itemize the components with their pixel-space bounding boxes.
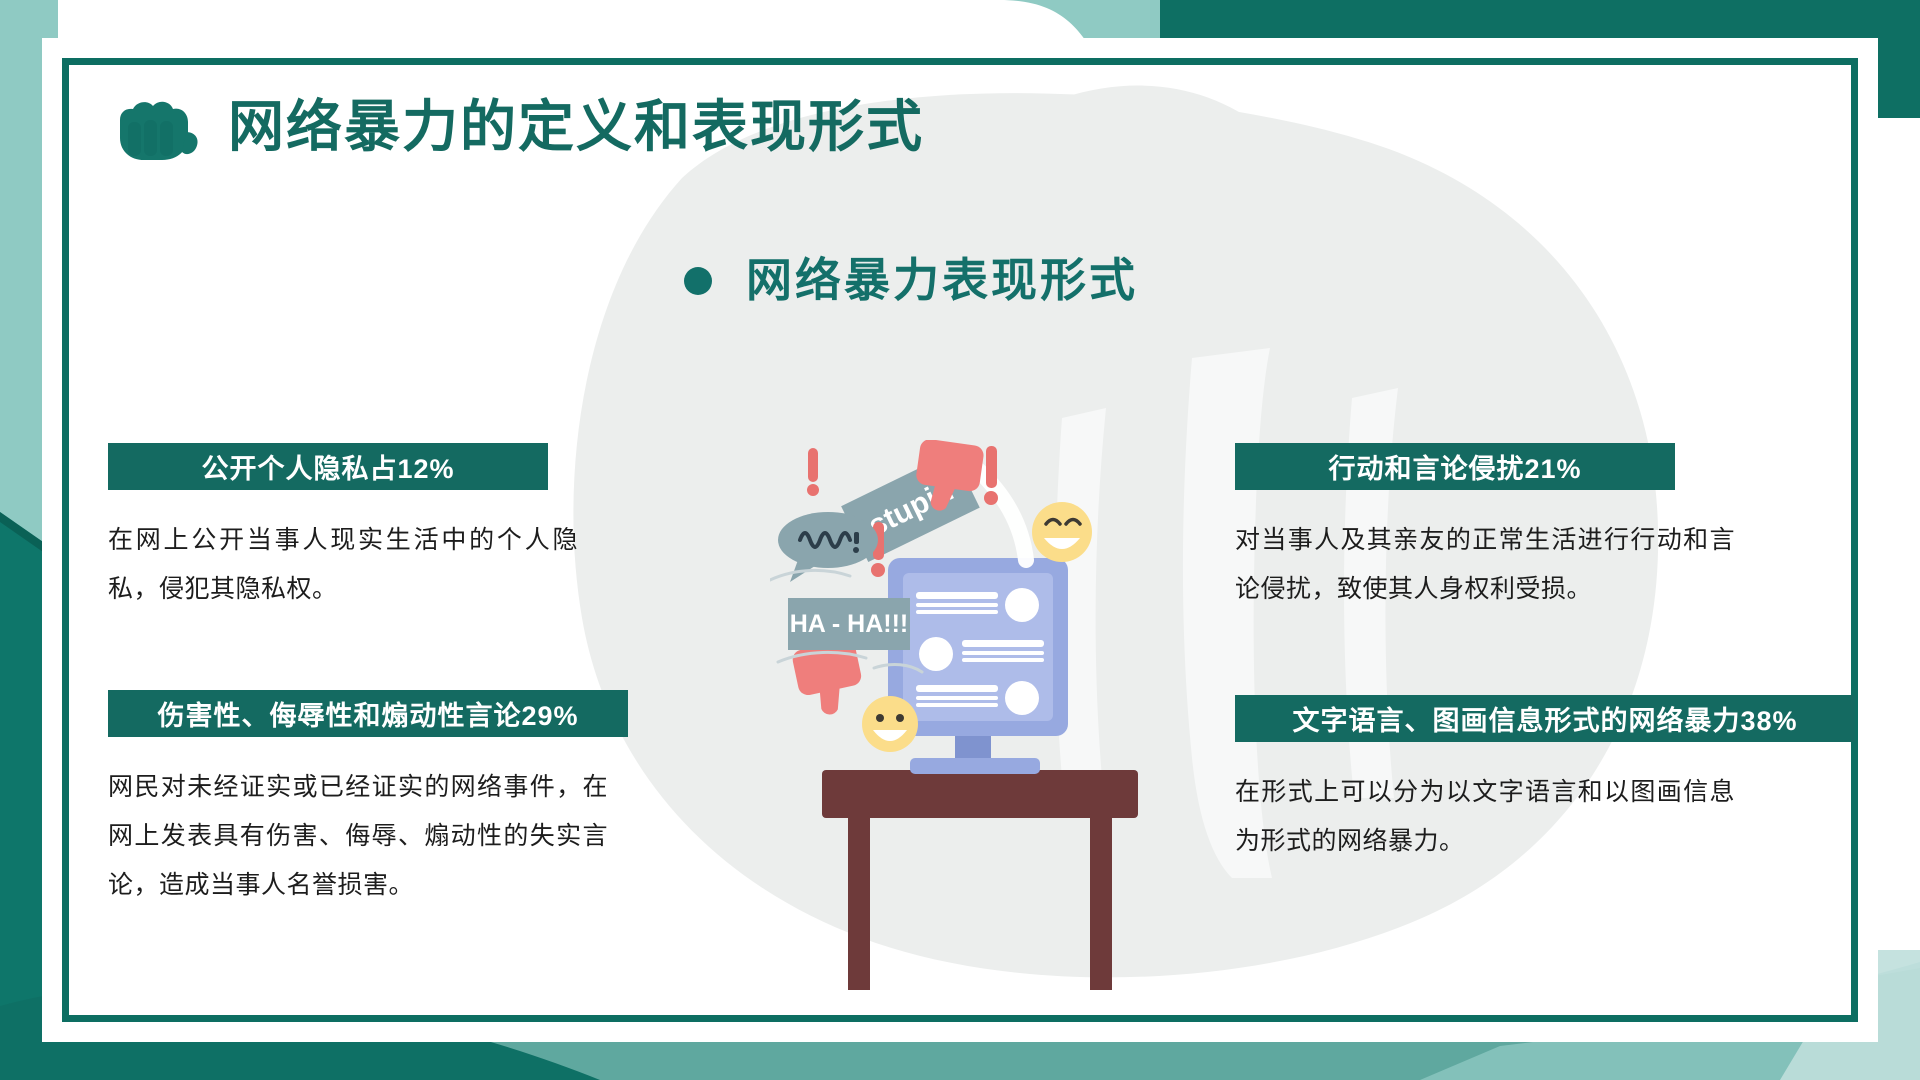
block-body: 网民对未经证实或已经证实的网络事件，在网上发表具有伤害、侮辱、煽动性的失实言论，… (108, 763, 608, 909)
subtitle-text: 网络暴力表现形式 (746, 258, 1138, 304)
desk-icon (822, 770, 1138, 990)
page-title: 网络暴力的定义和表现形式 (228, 100, 924, 156)
laughing-smiley-icon (1032, 502, 1092, 562)
block-heading: 伤害性、侮辱性和煽动性言论29% (108, 690, 628, 737)
block-public-privacy: 公开个人隐私占12% 在网上公开当事人现实生活中的个人隐私，侵犯其隐私权。 (108, 443, 548, 614)
monitor-icon (888, 558, 1068, 736)
block-action-speech-harassment: 行动和言论侵扰21% 对当事人及其亲友的正常生活进行行动和言论侵扰，致使其人身权… (1235, 443, 1675, 614)
block-body: 在形式上可以分为以文字语言和以图画信息为形式的网络暴力。 (1235, 768, 1735, 866)
ha-ha-speech-bubble: HA - HA!!! (788, 598, 910, 650)
fist-icon (108, 92, 202, 164)
cyberbullying-illustration: stupid HA - HA!!! (770, 440, 1190, 1000)
block-heading: 公开个人隐私占12% (108, 443, 548, 490)
subtitle-row: 网络暴力表现形式 (684, 258, 1138, 304)
thumbs-down-icon (791, 639, 868, 720)
slide-header: 网络暴力的定义和表现形式 (108, 92, 924, 164)
block-heading: 行动和言论侵扰21% (1235, 443, 1675, 490)
exclamation-mark-icon (807, 448, 819, 496)
block-body: 在网上公开当事人现实生活中的个人隐私，侵犯其隐私权。 (108, 516, 578, 614)
bullet-dot-icon (684, 267, 712, 295)
block-harmful-speech: 伤害性、侮辱性和煽动性言论29% 网民对未经证实或已经证实的网络事件，在网上发表… (108, 690, 628, 909)
block-text-image-violence: 文字语言、图画信息形式的网络暴力38% 在形式上可以分为以文字语言和以图画信息为… (1235, 695, 1855, 866)
laughing-smiley-icon (862, 696, 918, 752)
exclamation-mark-icon (984, 446, 998, 505)
block-heading: 文字语言、图画信息形式的网络暴力38% (1235, 695, 1855, 742)
ha-ha-label: HA - HA!!! (790, 610, 908, 638)
block-body: 对当事人及其亲友的正常生活进行行动和言论侵扰，致使其人身权利受损。 (1235, 516, 1735, 614)
